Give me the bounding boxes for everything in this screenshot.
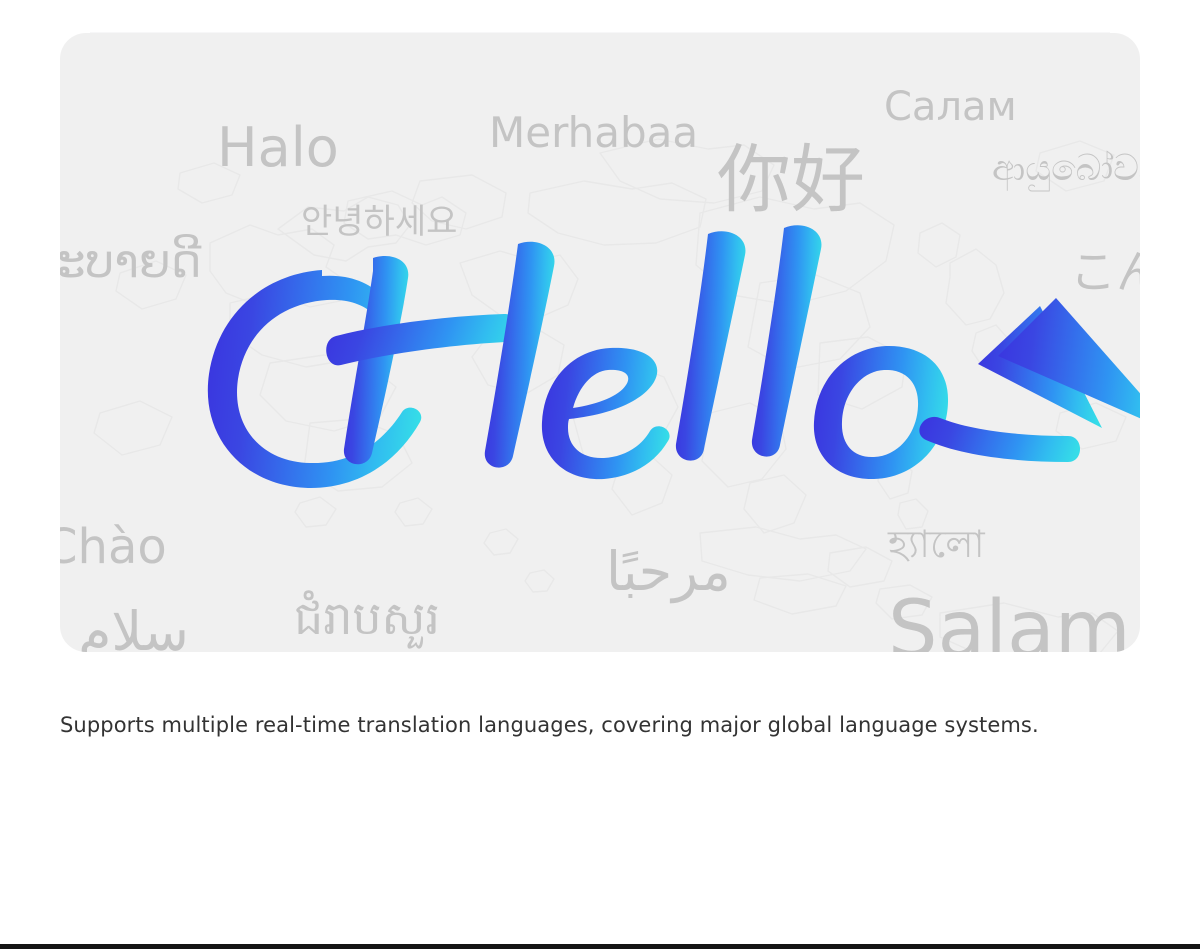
- greeting-word: سلام: [78, 605, 189, 652]
- greeting-word: ආයුබෝවන්: [992, 151, 1140, 187]
- greeting-word: مرحبًا: [606, 545, 731, 599]
- greeting-word: Chào: [60, 523, 167, 571]
- greeting-word: Салам: [884, 87, 1017, 127]
- greeting-word: Halo: [217, 121, 339, 175]
- feature-page: Halo Merhabaa Салам 안녕하세요 你好 ආයුබෝවන් ສະ…: [0, 0, 1200, 949]
- page-bottom-bar: [0, 944, 1200, 949]
- greeting-word: 你好: [717, 143, 865, 217]
- greeting-word: Salam: [888, 591, 1131, 652]
- translation-languages-hero-card: Halo Merhabaa Салам 안녕하세요 你好 ආයුබෝවන් ສະ…: [60, 33, 1140, 652]
- feature-caption: Supports multiple real-time translation …: [60, 709, 1140, 741]
- greeting-word: হ্যালো: [888, 525, 985, 563]
- greeting-word: ជំរាបសួរ: [294, 595, 440, 641]
- hello-wordmark: [140, 208, 1140, 498]
- greeting-word: Merhabaa: [489, 112, 698, 154]
